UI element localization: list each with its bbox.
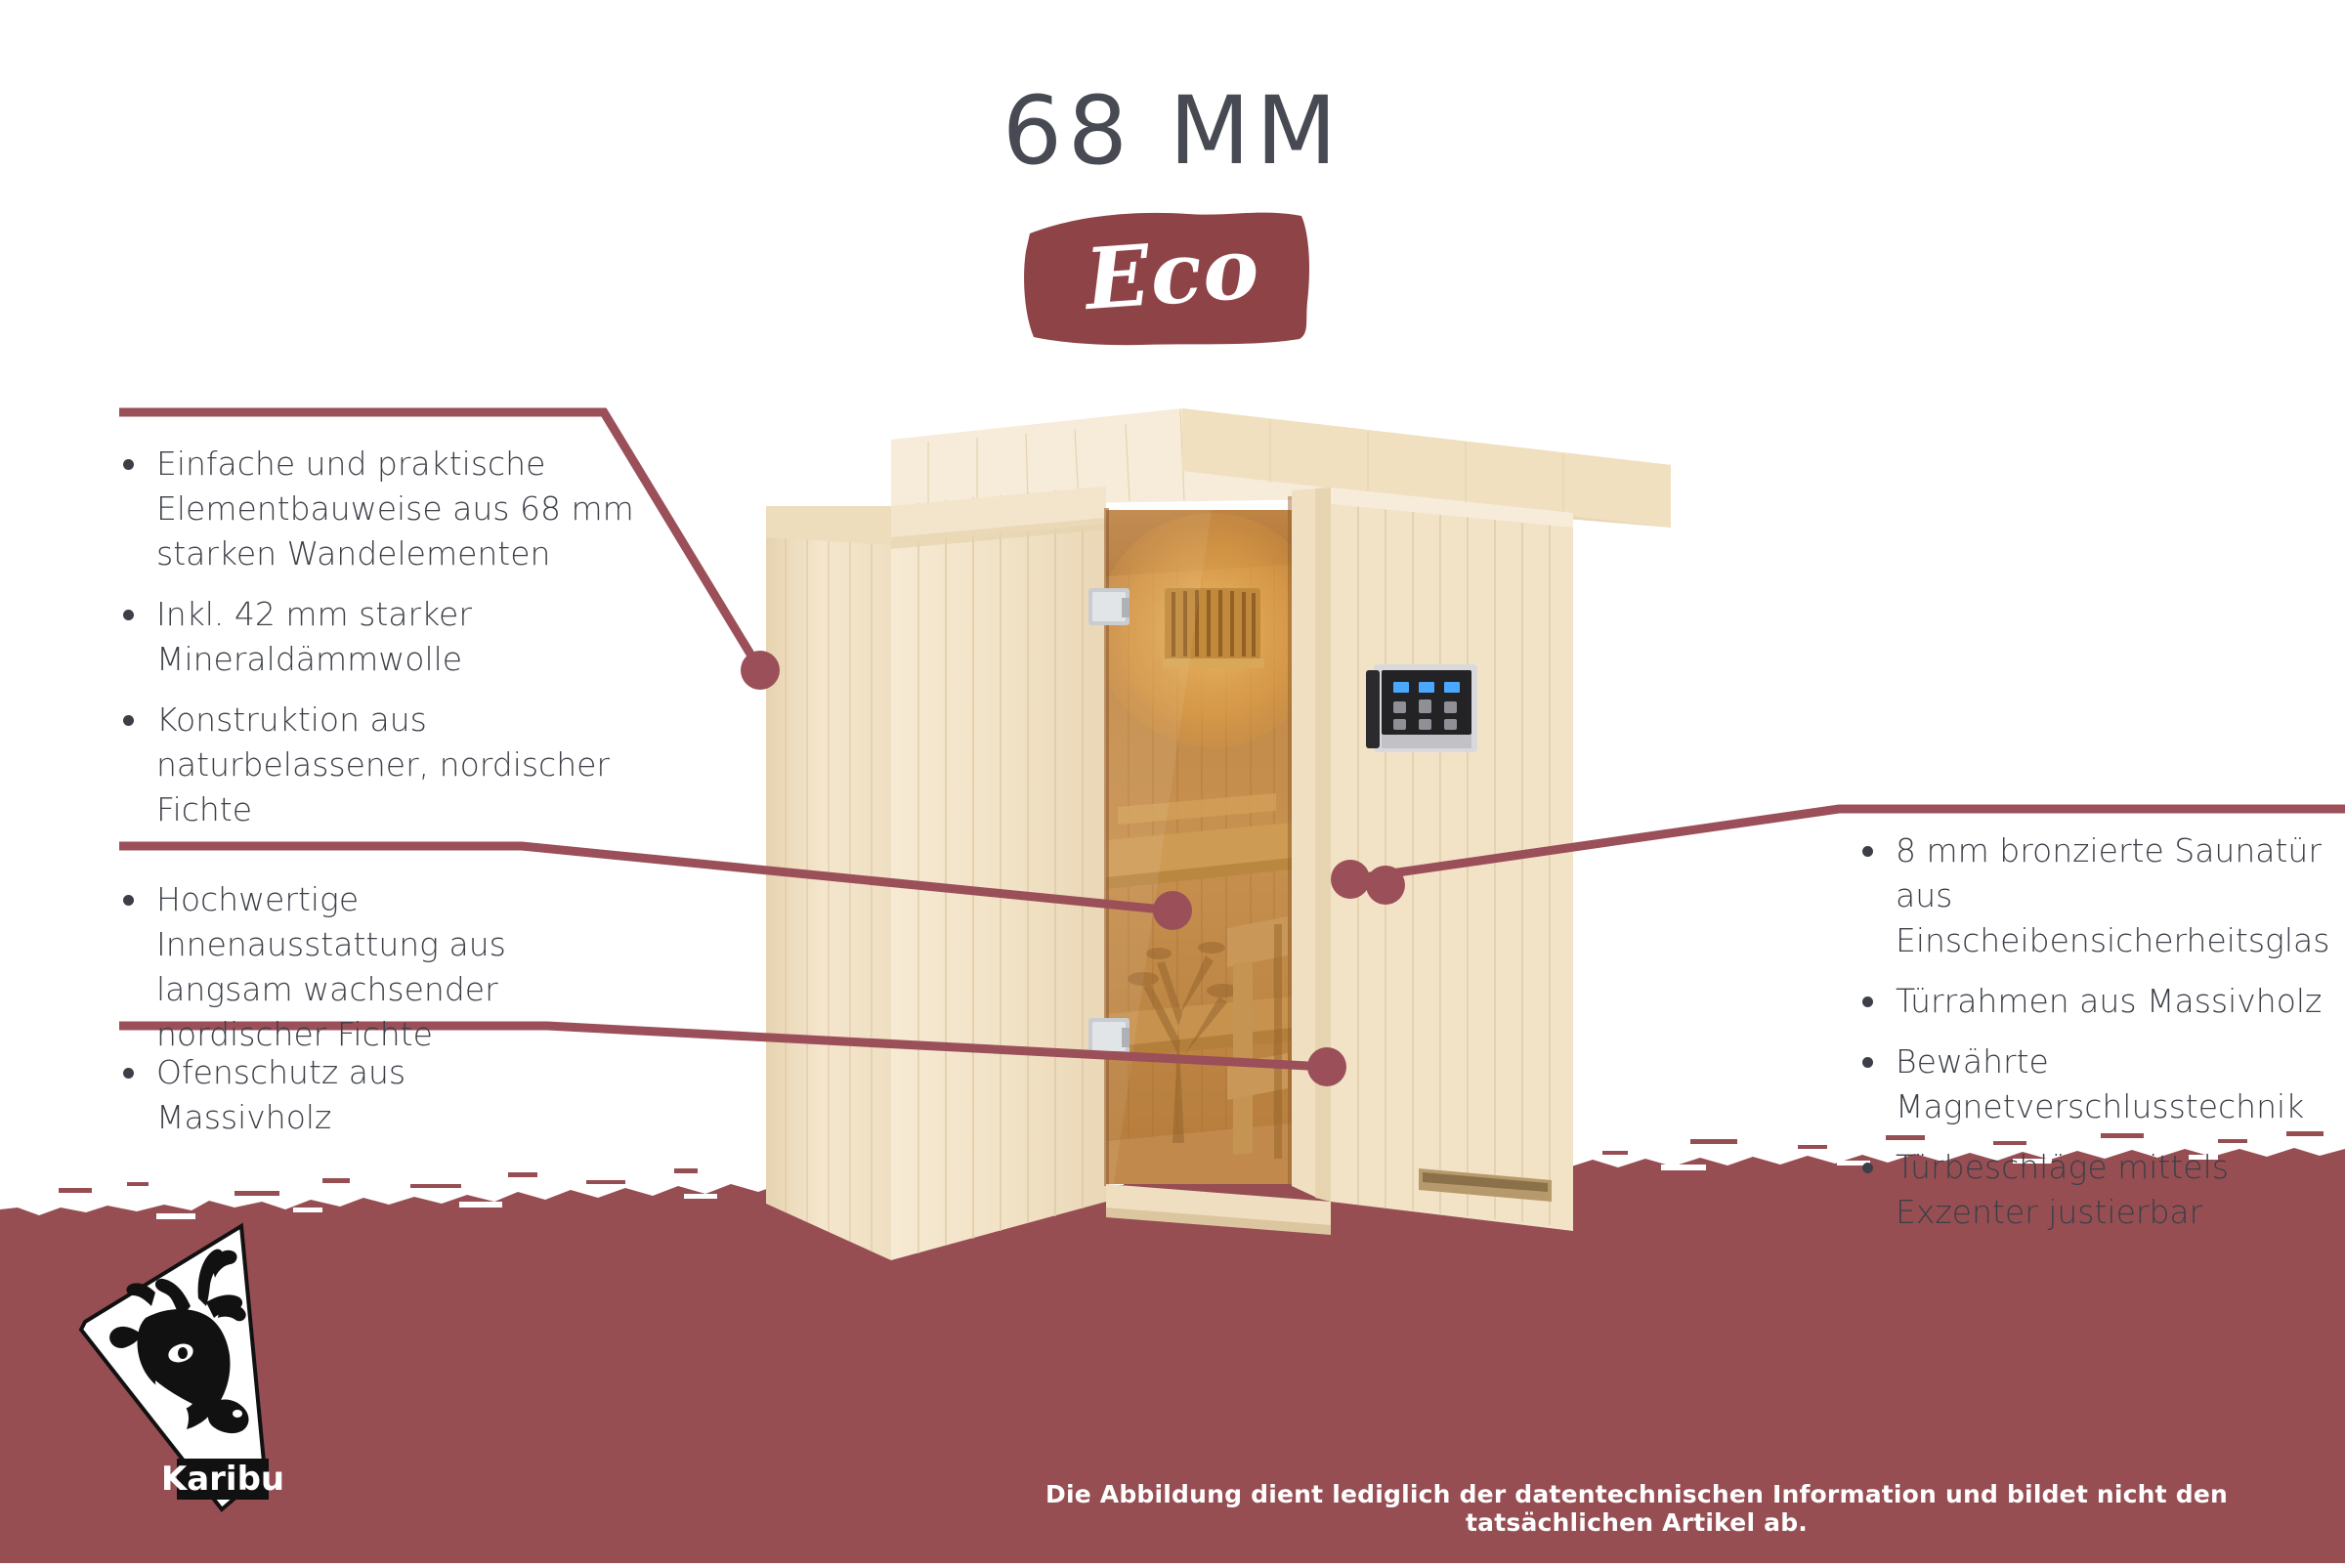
list-item: Konstruktion aus naturbelassener, nordis… xyxy=(115,698,643,832)
list-item: Inkl. 42 mm starker Mineraldämmwolle xyxy=(115,592,643,682)
list-item: Bewährte Magnetverschlusstechnik xyxy=(1855,1039,2345,1129)
list-item: Türrahmen aus Massivholz xyxy=(1855,979,2345,1024)
list-item: Türbeschläge mittels Exzenter justierbar xyxy=(1855,1145,2345,1235)
list-item: Einfache und praktische Elementbauweise … xyxy=(115,442,643,576)
connector-dot-right-inner xyxy=(1366,866,1405,905)
list-item: 8 mm bronzierte Saunatür aus Einscheiben… xyxy=(1855,828,2345,963)
connector-dot-left-2 xyxy=(1153,891,1192,930)
connector-dot-left-3 xyxy=(1307,1047,1346,1086)
connector-dot-right-1 xyxy=(1331,860,1370,899)
infographic-canvas: 68 MM Eco xyxy=(0,0,2345,1563)
logo-wordmark: Karibu xyxy=(161,1460,284,1499)
callout-left-group-3: Ofenschutz aus Massivholz xyxy=(115,1050,584,1156)
karibu-logo: Karibu xyxy=(73,1216,337,1519)
list-item: Hochwertige Innenausstattung aus langsam… xyxy=(115,877,584,1057)
connector-dot-left-1 xyxy=(741,651,780,690)
callout-left-group-1: Einfache und praktische Elementbauweise … xyxy=(115,442,643,848)
list-item: Ofenschutz aus Massivholz xyxy=(115,1050,584,1140)
disclaimer-text: Die Abbildung dient lediglich der datent… xyxy=(987,1480,2286,1537)
callout-right-group-1: 8 mm bronzierte Saunatür aus Einscheiben… xyxy=(1855,828,2345,1250)
callout-left-group-2: Hochwertige Innenausstattung aus langsam… xyxy=(115,877,584,1073)
